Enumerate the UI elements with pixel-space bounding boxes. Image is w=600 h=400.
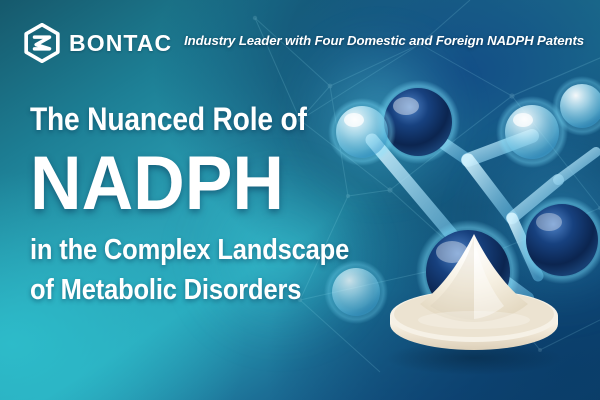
poster-canvas: BONTAC Industry Leader with Four Domesti… — [0, 0, 600, 400]
headline-line-3: in the Complex Landscape — [30, 230, 347, 270]
headline-line-1: The Nuanced Role of — [30, 98, 347, 140]
header-tagline: Industry Leader with Four Domestic and F… — [184, 33, 584, 48]
brand-name: BONTAC — [69, 32, 172, 55]
brand-lockup: BONTAC — [22, 23, 172, 63]
headline-line-4: of Metabolic Disorders — [30, 270, 347, 310]
background-glow — [470, 130, 600, 310]
petri-dish-powder-icon — [378, 228, 566, 376]
headline-keyword-nadph: NADPH — [30, 142, 368, 226]
poster-header: BONTAC Industry Leader with Four Domesti… — [0, 0, 600, 68]
hexagon-ribbon-logo-icon — [22, 23, 62, 63]
headline-block: The Nuanced Role of NADPH in the Complex… — [30, 98, 390, 310]
